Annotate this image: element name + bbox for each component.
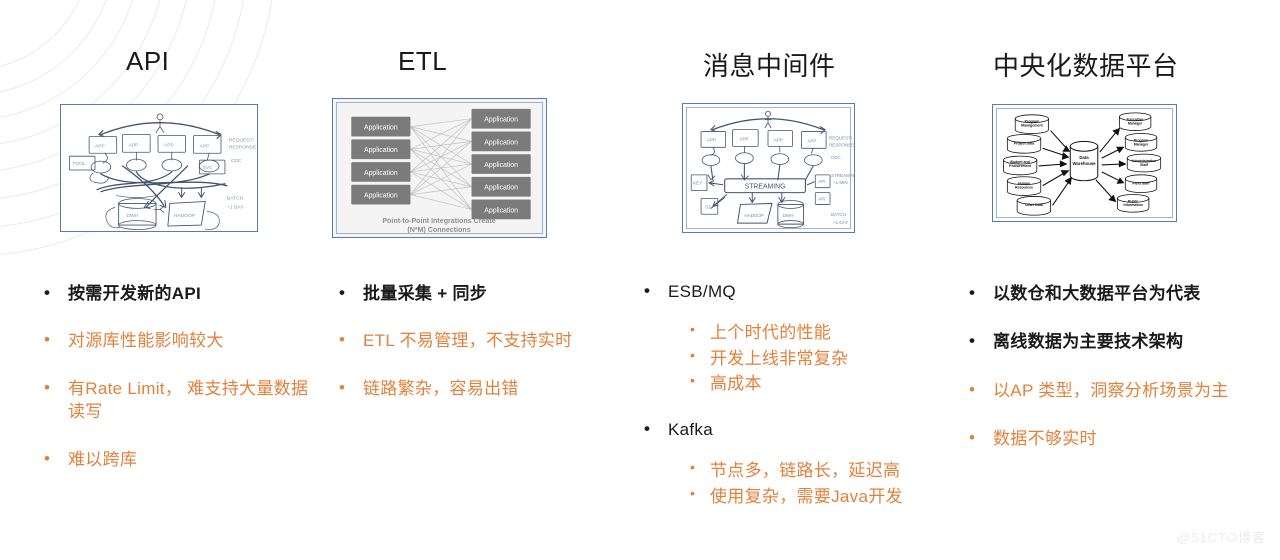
bullet-item: • 数据不够实时 bbox=[955, 427, 1255, 450]
figure-data-warehouse: Program Management Project Data Budget a… bbox=[992, 104, 1177, 222]
bullet-dot: • bbox=[690, 485, 710, 503]
figure-inner-border bbox=[336, 102, 543, 234]
bullet-text: 批量采集 + 同步 bbox=[363, 282, 487, 305]
svg-text:HADOOP: HADOOP bbox=[174, 213, 196, 219]
figure-streaming-sketch: APP APP APP APP KEY API API S3 HADOOP DW… bbox=[682, 103, 855, 233]
svg-text:APP: APP bbox=[164, 142, 175, 148]
bullet-dot: • bbox=[690, 459, 710, 477]
figure-api-sketch: APP APP APP APP TOOL SVC DWH HADOOP REQU… bbox=[60, 104, 258, 232]
svg-text:APP: APP bbox=[95, 143, 106, 149]
column-title-etl: ETL bbox=[398, 46, 447, 77]
bullet-item: • 按需开发新的API bbox=[30, 282, 320, 305]
sub-bullet-group-kafka: • 节点多，链路长，延迟高 • 使用复杂，需要Java开发 bbox=[640, 459, 960, 508]
bullet-dot: • bbox=[690, 372, 710, 390]
bullet-text: 数据不够实时 bbox=[993, 427, 1097, 450]
bullet-item: • 对源库性能影响较大 bbox=[30, 329, 320, 352]
bullet-text: 使用复杂，需要Java开发 bbox=[710, 485, 903, 508]
bullet-list-api: • 按需开发新的API • 对源库性能影响较大 • 有Rate Limit， 难… bbox=[30, 282, 320, 495]
bullet-item-esb-mq: • ESB/MQ bbox=[640, 280, 960, 303]
bullet-item-kafka: • Kafka bbox=[640, 418, 960, 441]
bullet-dot: • bbox=[44, 282, 68, 303]
bullet-dot: • bbox=[690, 321, 710, 339]
bullet-item: • 以AP 类型，洞察分析场景为主 bbox=[955, 379, 1255, 402]
svg-text:RESPONSE: RESPONSE bbox=[229, 144, 257, 150]
bullet-item: • 以数仓和大数据平台为代表 bbox=[955, 282, 1255, 305]
sub-bullet-item: • 高成本 bbox=[690, 372, 960, 395]
figure-inner-border bbox=[996, 108, 1173, 218]
sub-bullet-item: • 使用复杂，需要Java开发 bbox=[690, 485, 960, 508]
bullet-text: 有Rate Limit， 难支持大量数据读写 bbox=[68, 377, 320, 424]
bullet-text: ETL 不易管理，不支持实时 bbox=[363, 329, 572, 352]
bullet-item: • 有Rate Limit， 难支持大量数据读写 bbox=[30, 377, 320, 424]
svg-text:APP: APP bbox=[128, 142, 139, 148]
bullet-text: 高成本 bbox=[710, 372, 762, 395]
bullet-text: 按需开发新的API bbox=[68, 282, 201, 305]
bullet-text: 以数仓和大数据平台为代表 bbox=[993, 282, 1201, 305]
bullet-text: 链路繁杂，容易出错 bbox=[363, 377, 519, 400]
svg-text:REQUEST/: REQUEST/ bbox=[229, 137, 255, 143]
bullet-list-etl: • 批量采集 + 同步 • ETL 不易管理，不支持实时 • 链路繁杂，容易出错 bbox=[325, 282, 625, 424]
svg-text:SVC: SVC bbox=[202, 165, 213, 171]
bullet-dot: • bbox=[969, 427, 993, 448]
bullet-text: ESB/MQ bbox=[668, 280, 736, 303]
svg-text:TOOL: TOOL bbox=[72, 161, 86, 167]
bullet-dot: • bbox=[969, 379, 993, 400]
bullet-dot: • bbox=[339, 282, 363, 303]
bullet-text: 开发上线非常复杂 bbox=[710, 347, 848, 370]
bullet-item: • ETL 不易管理，不支持实时 bbox=[325, 329, 625, 352]
sub-bullet-group-esb-mq: • 上个时代的性能 • 开发上线非常复杂 • 高成本 bbox=[640, 321, 960, 395]
watermark: @51CTO博客 bbox=[1177, 527, 1266, 546]
bullet-dot: • bbox=[44, 329, 68, 350]
bullet-text: 难以跨库 bbox=[68, 448, 137, 471]
bullet-item: • 难以跨库 bbox=[30, 448, 320, 471]
figure-etl-point-to-point: Application Application Application Appl… bbox=[332, 98, 547, 238]
bullet-dot: • bbox=[339, 329, 363, 350]
bullet-item: • 批量采集 + 同步 bbox=[325, 282, 625, 305]
bullet-text: 以AP 类型，洞察分析场景为主 bbox=[993, 379, 1229, 402]
bullet-item: • 离线数据为主要技术架构 bbox=[955, 330, 1255, 353]
svg-text:BATCH: BATCH bbox=[227, 196, 244, 202]
bullet-dot: • bbox=[44, 448, 68, 469]
svg-text:CDC: CDC bbox=[231, 158, 242, 164]
bullet-list-message-middleware: • ESB/MQ • 上个时代的性能 • 开发上线非常复杂 • 高成本 • bbox=[640, 280, 960, 530]
svg-text:~1 DAY: ~1 DAY bbox=[227, 204, 244, 210]
bullet-text: 离线数据为主要技术架构 bbox=[993, 330, 1183, 353]
bullet-dot: • bbox=[690, 347, 710, 365]
column-title-central-data-platform: 中央化数据平台 bbox=[993, 46, 1179, 83]
svg-text:APP: APP bbox=[199, 143, 210, 149]
bullet-text: 上个时代的性能 bbox=[710, 321, 831, 344]
bullet-dot: • bbox=[644, 280, 668, 301]
bullet-item: • 链路繁杂，容易出错 bbox=[325, 377, 625, 400]
bullet-dot: • bbox=[969, 282, 993, 303]
bullet-text: 对源库性能影响较大 bbox=[68, 329, 224, 352]
sub-bullet-item: • 上个时代的性能 bbox=[690, 321, 960, 344]
bullet-dot: • bbox=[969, 330, 993, 351]
bullet-dot: • bbox=[644, 418, 668, 439]
figure-inner-border bbox=[686, 107, 851, 229]
column-title-api: API bbox=[126, 46, 169, 77]
bullet-list-central-data-platform: • 以数仓和大数据平台为代表 • 离线数据为主要技术架构 • 以AP 类型，洞察… bbox=[955, 282, 1255, 476]
bullet-dot: • bbox=[44, 377, 68, 398]
sub-bullet-item: • 开发上线非常复杂 bbox=[690, 347, 960, 370]
bullet-text: 节点多，链路长，延迟高 bbox=[710, 459, 900, 482]
column-title-message-middleware: 消息中间件 bbox=[703, 46, 836, 83]
bullet-dot: • bbox=[339, 377, 363, 398]
svg-text:DWH: DWH bbox=[127, 213, 139, 219]
slide-root: API bbox=[0, 0, 1280, 560]
sub-bullet-item: • 节点多，链路长，延迟高 bbox=[690, 459, 960, 482]
bullet-text: Kafka bbox=[668, 418, 713, 441]
